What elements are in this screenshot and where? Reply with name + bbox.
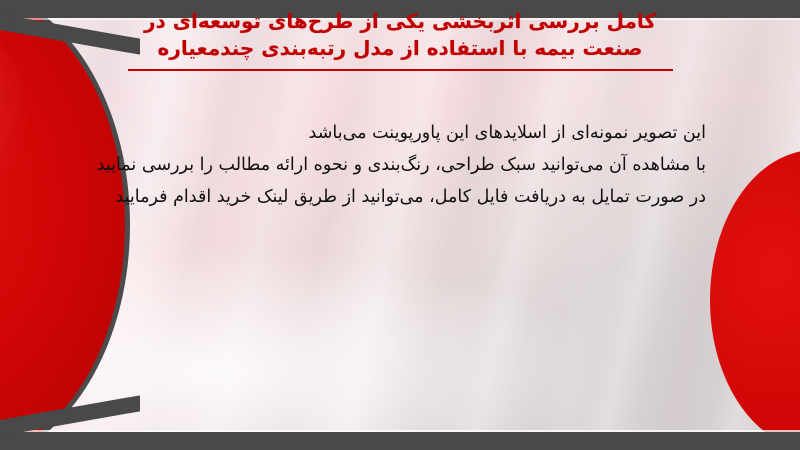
body-line-1: این تصویر نمونه‌ای از اسلایدهای این پاور… bbox=[66, 117, 706, 149]
title-underline-rule bbox=[128, 69, 673, 71]
bottom-frame-bar bbox=[0, 432, 800, 450]
body-line-2: با مشاهده آن می‌توانید سبک طراحی، رنگ‌بن… bbox=[66, 149, 706, 181]
slide-title-line-1: کامل بررسی اثربخشی یکی از طرح‌های توسعه‌… bbox=[108, 8, 692, 35]
slide-title-line-2: صنعت بیمه با استفاده از مدل رتبه‌بندی چن… bbox=[108, 35, 692, 62]
body-line-3: در صورت تمایل به دریافت فایل کامل، می‌تو… bbox=[66, 181, 706, 213]
slide-body: این تصویر نمونه‌ای از اسلایدهای این پاور… bbox=[66, 117, 706, 213]
presentation-slide: کامل بررسی اثربخشی یکی از طرح‌های توسعه‌… bbox=[0, 0, 800, 450]
slide-title: کامل بررسی اثربخشی یکی از طرح‌های توسعه‌… bbox=[108, 8, 692, 71]
